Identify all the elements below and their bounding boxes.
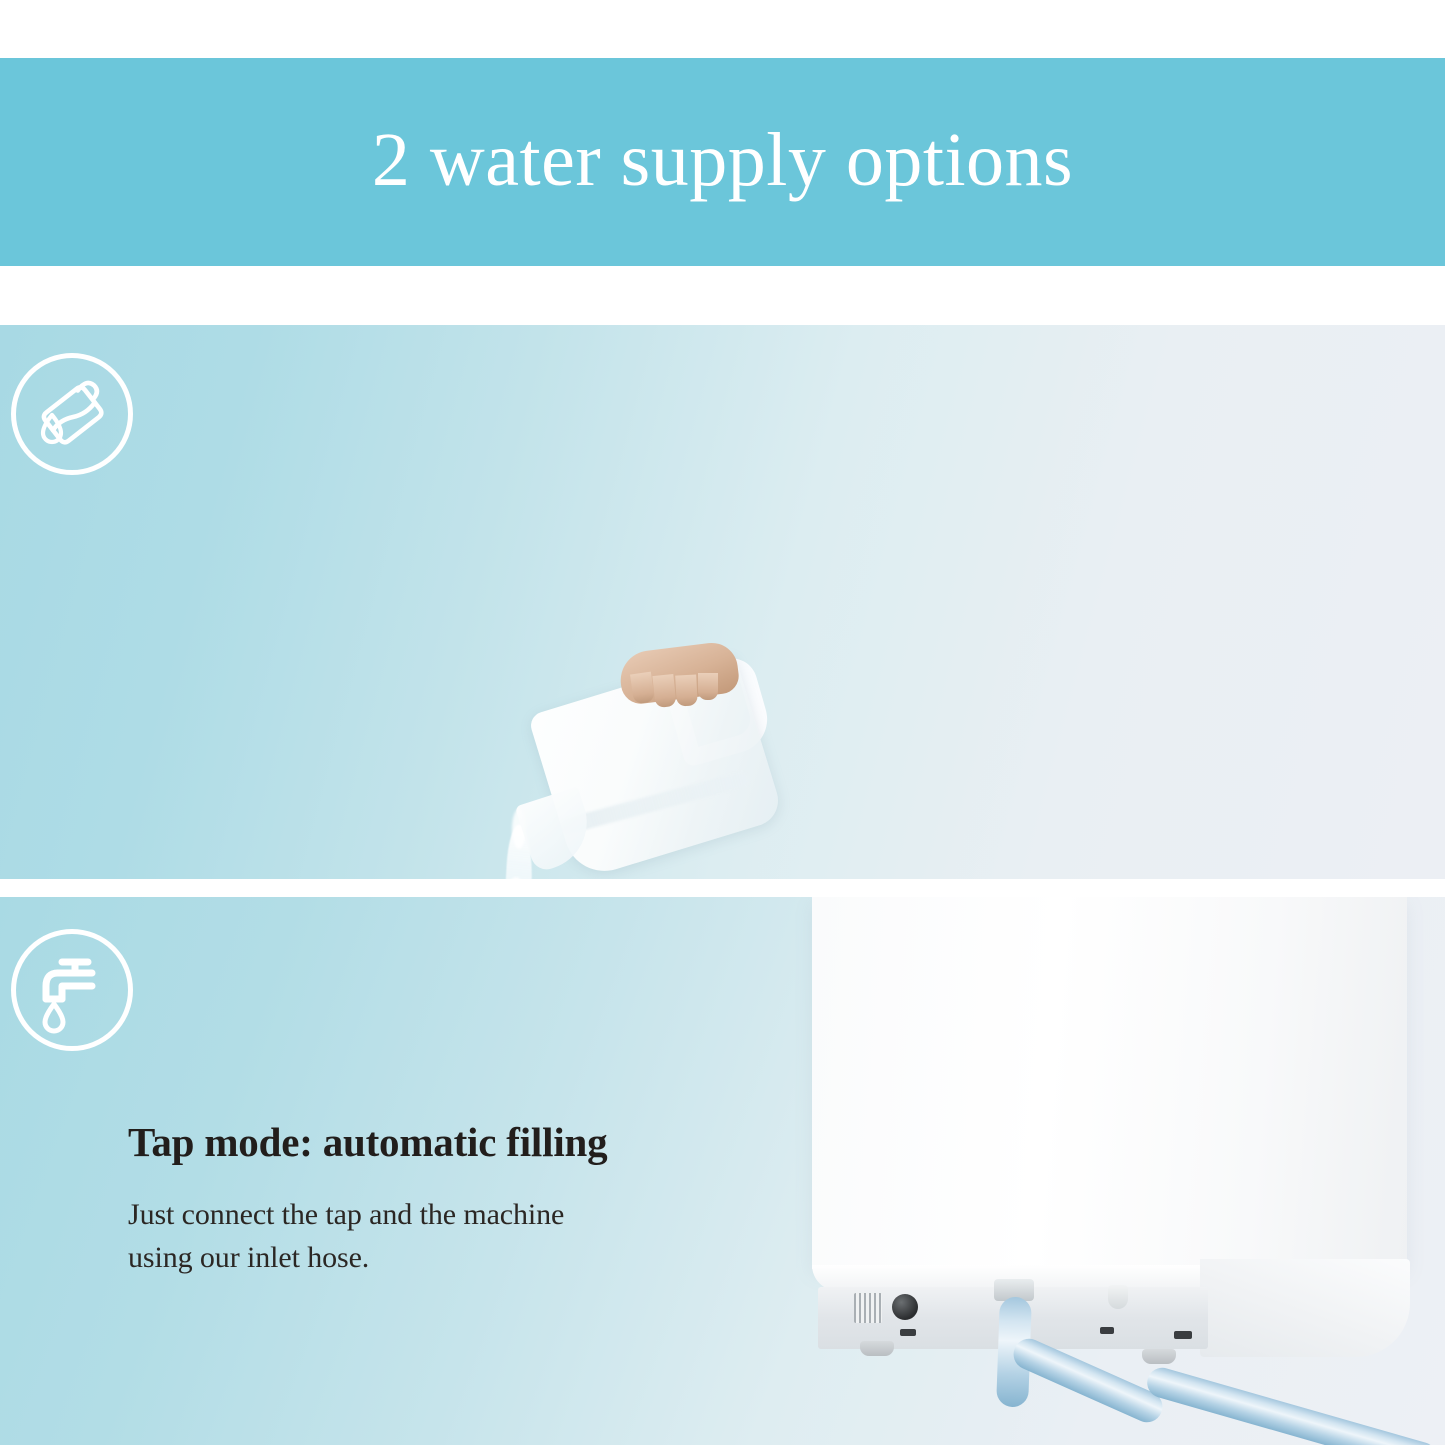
dishwasher-rear-body: [812, 897, 1407, 1269]
section-panel-tap-mode: Tap mode: automatic filling Just connect…: [0, 897, 1445, 1445]
base-knob: [892, 1294, 918, 1320]
base-slot: [1174, 1331, 1192, 1339]
tap-mode-body-line-1: Just connect the tap and the machine: [128, 1194, 728, 1237]
watering-jug-icon: [11, 353, 133, 475]
finger: [698, 673, 718, 700]
base-slot: [1100, 1327, 1114, 1334]
tap-mode-text-block: Tap mode: automatic filling Just connect…: [128, 1120, 728, 1279]
inlet-hose-run: [1144, 1364, 1441, 1445]
section-panel-tank-mode: Tank mode: manual filling Fill 3 jugs of…: [0, 325, 1445, 879]
finger: [630, 672, 655, 705]
leveling-foot: [1142, 1349, 1176, 1364]
dishwasher-rear-right-corner: [1200, 1259, 1410, 1357]
tap-mode-body-line-2: using our inlet hose.: [128, 1237, 728, 1280]
base-vent-grille: [854, 1293, 882, 1323]
finger: [652, 674, 676, 708]
leveling-foot: [860, 1341, 894, 1356]
dishwasher-tap-mode-image: [812, 897, 1412, 1445]
base-slot: [900, 1329, 916, 1336]
faucet-drip-icon: [11, 929, 133, 1051]
tap-mode-body: Just connect the tap and the machine usi…: [128, 1194, 728, 1279]
water-inlet-valve[interactable]: [1108, 1285, 1128, 1309]
dishwasher-tank-mode-image: [118, 873, 818, 879]
header-banner: 2 water supply options: [0, 58, 1445, 266]
finger: [675, 674, 698, 706]
page-title: 2 water supply options: [372, 122, 1073, 198]
tap-mode-heading: Tap mode: automatic filling: [128, 1120, 728, 1166]
